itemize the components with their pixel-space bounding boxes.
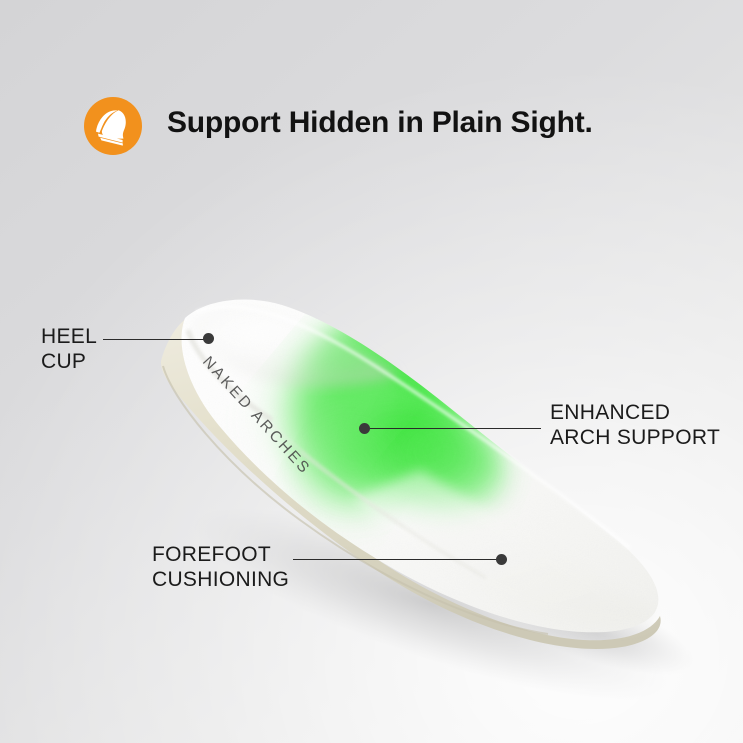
leader-line-arch-support bbox=[369, 428, 541, 429]
callout-forefoot-cushioning-line2: CUSHIONING bbox=[152, 567, 289, 592]
callout-heel-cup: HEEL CUP bbox=[41, 324, 97, 374]
leader-dot-heel-cup bbox=[203, 333, 214, 344]
callout-forefoot-cushioning-line1: FOREFOOT bbox=[152, 542, 289, 567]
leader-line-forefoot-cushioning bbox=[293, 559, 501, 560]
foot-silhouette-icon bbox=[84, 97, 142, 155]
callout-arch-support: ENHANCED ARCH SUPPORT bbox=[550, 400, 720, 450]
leader-line-heel-cup bbox=[103, 339, 208, 340]
callout-heel-cup-line2: CUP bbox=[41, 349, 97, 374]
leader-dot-forefoot-cushioning bbox=[496, 554, 507, 565]
callout-heel-cup-line1: HEEL bbox=[41, 324, 97, 349]
callout-arch-support-line2: ARCH SUPPORT bbox=[550, 425, 720, 450]
callout-arch-support-line1: ENHANCED bbox=[550, 400, 720, 425]
leader-dot-arch-support bbox=[359, 423, 370, 434]
infographic-canvas: NAKED ARCHES Support Hidden in Plain Sig… bbox=[0, 0, 743, 743]
page-title: Support Hidden in Plain Sight. bbox=[167, 106, 593, 140]
brand-logo bbox=[84, 97, 142, 155]
callout-forefoot-cushioning: FOREFOOT CUSHIONING bbox=[152, 542, 289, 592]
